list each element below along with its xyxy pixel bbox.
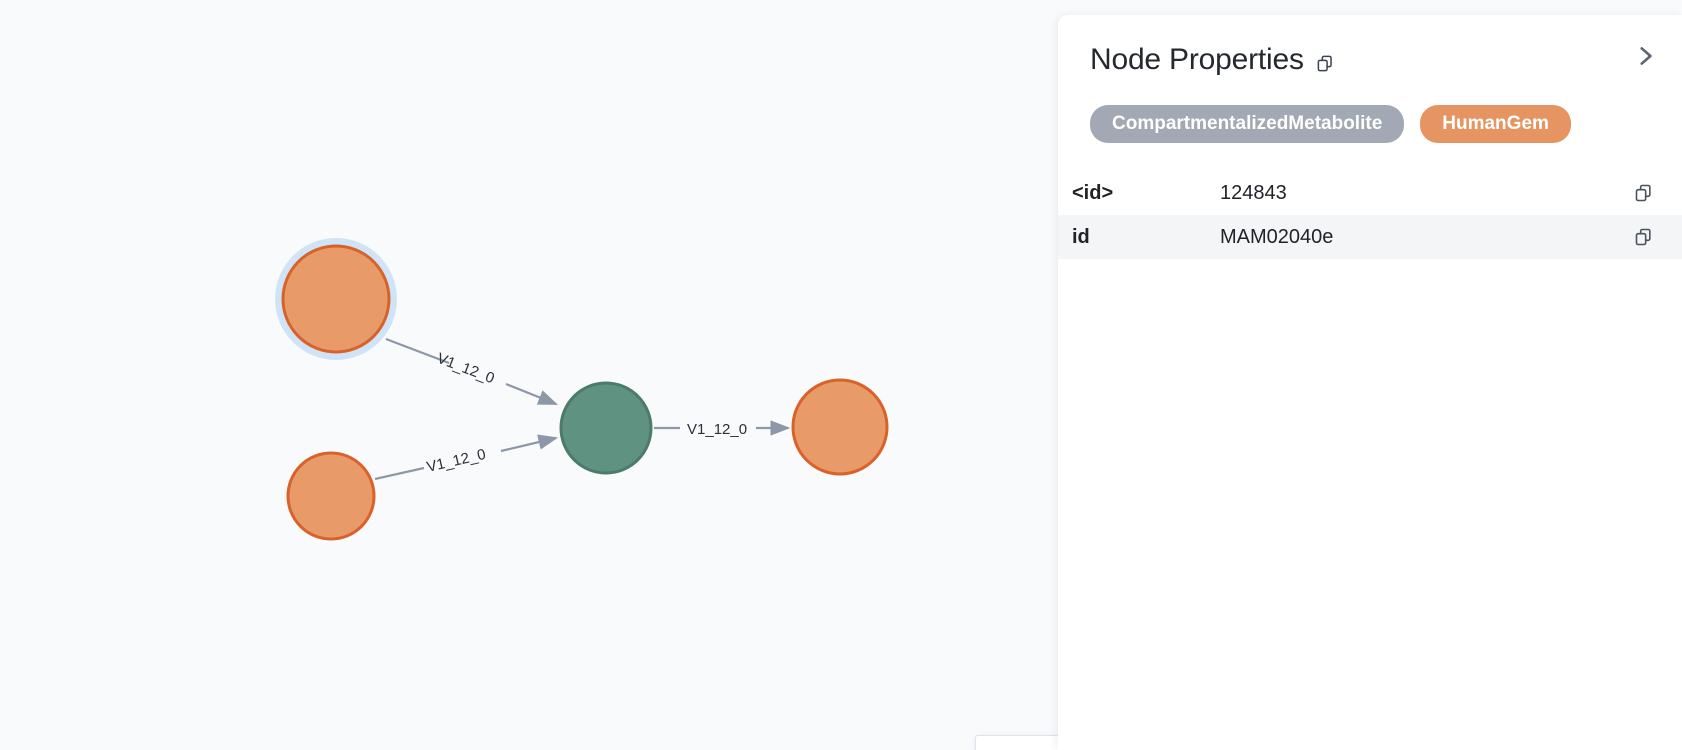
node-properties-panel: Node Properties CompartmentalizedMetabol… (1058, 15, 1682, 750)
table-row[interactable]: id MAM02040e (1058, 215, 1682, 259)
property-value: MAM02040e (1220, 226, 1634, 249)
chevron-right-icon (1632, 43, 1658, 69)
property-key: id (1058, 226, 1220, 249)
node-labels-row: CompartmentalizedMetabolite HumanGem (1058, 79, 1682, 143)
edge-lower-left-to-center[interactable]: V1_12_0 (375, 438, 556, 479)
graph-explorer-app: V1_12_0 V1_12_0 V1_12_0 (0, 0, 1682, 750)
collapse-panel-button[interactable] (1630, 41, 1660, 71)
node-label-chip-humangem[interactable]: HumanGem (1420, 105, 1571, 143)
edge-label: V1_12_0 (425, 446, 487, 476)
property-key: <id> (1058, 182, 1220, 205)
node-metabolite-right[interactable] (793, 380, 887, 474)
copy-icon[interactable] (1634, 183, 1654, 203)
edge-label: V1_12_0 (687, 421, 747, 438)
edge-top-left-to-center[interactable]: V1_12_0 (386, 339, 556, 404)
edge-label: V1_12_0 (435, 350, 497, 387)
property-value: 124843 (1220, 182, 1634, 205)
panel-header: Node Properties (1058, 15, 1682, 79)
page-title: Node Properties (1090, 45, 1304, 75)
node-metabolite-selected[interactable] (283, 246, 389, 352)
node-label-chip-compartmentalizedmetabolite[interactable]: CompartmentalizedMetabolite (1090, 105, 1404, 143)
panel-title-row: Node Properties (1090, 45, 1682, 75)
copy-icon[interactable] (1316, 54, 1335, 73)
table-row[interactable]: <id> 124843 (1058, 171, 1682, 215)
node-reaction-center[interactable] (561, 383, 651, 473)
node-properties-table: <id> 124843 id MAM02040e (1058, 171, 1682, 259)
copy-icon[interactable] (1634, 227, 1654, 247)
edge-center-to-right[interactable]: V1_12_0 (654, 421, 788, 438)
node-metabolite-lower-left[interactable] (288, 453, 374, 539)
